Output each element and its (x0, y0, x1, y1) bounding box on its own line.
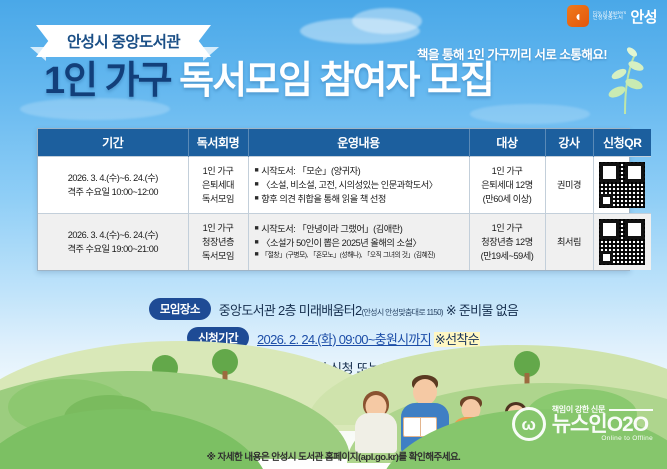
column-header-club: 독서회명 (188, 129, 248, 157)
application-period-value: 2026. 2. 24.(화) 09:00~충원시까지 (257, 332, 431, 347)
target-line: 청장년층 12명 (473, 235, 542, 249)
city-logo-name: 안성 (630, 6, 657, 27)
cell-target: 1인 가구 청장년층 12명 (만19세~59세) (469, 214, 545, 271)
info-text-application-period: 2026. 2. 24.(화) 09:00~충원시까지 ※선착순 (257, 329, 480, 348)
cell-instructor: 최서림 (545, 214, 593, 271)
cell-instructor: 권미경 (545, 157, 593, 214)
city-logo-slogan: 안성맞춤도시 (593, 16, 627, 22)
cell-period: 2026. 3. 4.(수)~6. 24.(수) 격주 수요일 10:00~12… (38, 157, 188, 214)
content-line: 향후 의견 취합을 통해 읽을 책 선정 (261, 194, 386, 204)
bullet-square-icon: ■ (255, 167, 259, 174)
target-line: (만19세~59세) (473, 249, 542, 263)
club-name-line: 독서모임 (192, 192, 245, 206)
news-brand-name: 뉴스인O2O (552, 414, 653, 436)
info-text-location: 중앙도서관 2층 미래배움터2(안성시 안성맞춤대로 1150) ※ 준비물 없… (219, 300, 518, 319)
period-schedule: 격주 수요일 10:00~12:00 (41, 185, 185, 199)
info-pill-location: 모임장소 (149, 298, 211, 320)
qr-code-icon[interactable] (599, 219, 645, 265)
cell-club-name: 1인 가구 청장년층 독서모임 (188, 214, 248, 271)
content-line: 시작도서: 「모순」(양귀자) (261, 166, 360, 176)
news-brand-sub: Online to Offline (552, 436, 653, 443)
cell-content: ■시작도서: 「모순」(양귀자) ■〈소설, 비소설, 고전, 시의성있는 인문… (248, 157, 469, 214)
content-line: 〈소설가 50인이 뽑은 2025년 올해의 소설〉 (261, 238, 421, 248)
table-header-row: 기간 독서회명 운영내용 대상 강사 신청QR (38, 129, 651, 157)
club-name-line: 청장년층 (192, 235, 245, 249)
cloud-decoration (470, 104, 590, 124)
column-header-period: 기간 (38, 129, 188, 157)
cell-period: 2026. 3. 4.(수)~6. 24.(수) 격주 수요일 19:00~21… (38, 214, 188, 271)
person-figure (351, 389, 401, 453)
footer-note: ※ 자세한 내용은 안성시 도서관 홈페이지(apl.go.kr)를 확인해주세… (0, 449, 667, 463)
poster-canvas: ◖ City of Masters 안성맞춤도시 안성 안성시 중앙도서관 책을… (0, 0, 667, 469)
cell-content: ■시작도서: 「안녕이라 그랬어」(김애란) ■〈소설가 50인이 뽑은 202… (248, 214, 469, 271)
period-dates: 2026. 3. 4.(수)~6. 24.(수) (41, 171, 185, 185)
location-value: 중앙도서관 2층 미래배움터2 (219, 303, 362, 318)
content-line: 시작도서: 「안녕이라 그랬어」(김애란) (261, 224, 402, 234)
target-line: (만60세 이상) (473, 192, 542, 206)
program-table: 기간 독서회명 운영내용 대상 강사 신청QR 2026. 3. 4.(수)~6… (37, 128, 630, 271)
bullet-square-icon: ■ (255, 239, 259, 246)
period-dates: 2026. 3. 4.(수)~6. 24.(수) (41, 228, 185, 242)
cloud-decoration (352, 8, 422, 34)
period-schedule: 격주 수요일 19:00~21:00 (41, 242, 185, 256)
table-row: 2026. 3. 4.(수)~6. 24.(수) 격주 수요일 19:00~21… (38, 214, 651, 271)
library-ribbon: 안성시 중앙도서관 (36, 25, 211, 57)
library-ribbon-label: 안성시 중앙도서관 (67, 30, 180, 52)
poster-title-main: 독서모임 참여자 모집 (179, 60, 493, 102)
anseong-emblem-icon: ◖ (567, 5, 589, 27)
news-watermark: ω 책임이 강한 신문 뉴스인O2O Online to Offline (512, 406, 653, 443)
club-name-line: 은퇴세대 (192, 178, 245, 192)
club-name-line: 1인 가구 (192, 221, 245, 235)
table-row: 2026. 3. 4.(수)~6. 24.(수) 격주 수요일 10:00~12… (38, 157, 651, 214)
newsin-o2o-logo-icon: ω (512, 407, 546, 441)
bullet-square-icon: ■ (255, 251, 259, 258)
bullet-square-icon: ■ (255, 181, 259, 188)
info-row-location: 모임장소 중앙도서관 2층 미래배움터2(안성시 안성맞춤대로 1150) ※ … (149, 298, 518, 320)
column-header-target: 대상 (469, 129, 545, 157)
bullet-square-icon: ■ (255, 225, 259, 232)
city-logo-text: City of Masters 안성맞춤도시 (593, 11, 627, 21)
news-watermark-text: 책임이 강한 신문 뉴스인O2O Online to Offline (552, 406, 653, 443)
location-note: ※ 준비물 없음 (446, 303, 518, 318)
bullet-square-icon: ■ (255, 195, 259, 202)
column-header-content: 운영내용 (248, 129, 469, 157)
city-logo: ◖ City of Masters 안성맞춤도시 안성 (567, 5, 657, 27)
club-name-line: 독서모임 (192, 249, 245, 263)
club-name-line: 1인 가구 (192, 164, 245, 178)
target-line: 은퇴세대 12명 (473, 178, 542, 192)
content-line: 「절창」(구병모), 「혼모노」(성해나), 「오직 그녀의 것」(김혜진) (261, 253, 435, 260)
cell-qr (593, 214, 651, 271)
target-line: 1인 가구 (473, 164, 542, 178)
cell-target: 1인 가구 은퇴세대 12명 (만60세 이상) (469, 157, 545, 214)
application-period-note: ※선착순 (434, 332, 480, 347)
cell-qr (593, 157, 651, 214)
location-address: (안성시 안성맞춤대로 1150) (362, 308, 443, 317)
cell-club-name: 1인 가구 은퇴세대 독서모임 (188, 157, 248, 214)
leaf-sprig-icon (605, 46, 645, 116)
poster-title-emphasis: 1인 가구 (44, 60, 171, 102)
column-header-qr: 신청QR (593, 129, 651, 157)
target-line: 1인 가구 (473, 221, 542, 235)
poster-title: 1인 가구 독서모임 참여자 모집 (44, 62, 493, 102)
qr-code-icon[interactable] (599, 162, 645, 208)
column-header-instructor: 강사 (545, 129, 593, 157)
content-line: 〈소설, 비소설, 고전, 시의성있는 인문과학도서〉 (261, 180, 437, 190)
